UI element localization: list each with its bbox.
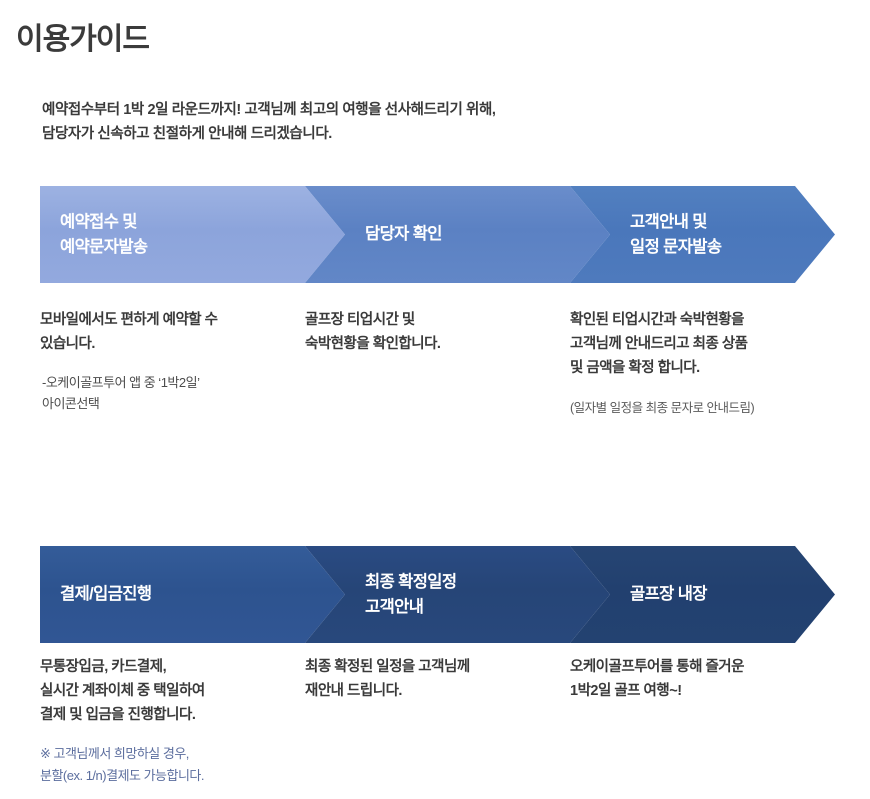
process-flow-row-1: 예약접수 및 예약문자발송 담당자 확인 고객안내 및 일정 문자발송 bbox=[40, 186, 835, 283]
description-4-note: ※ 고객님께서 희망하실 경우, 분할(ex. 1/n)결제도 가능합니다. bbox=[40, 743, 287, 787]
description-column-4: 무통장입금, 카드결제, 실시간 계좌이체 중 택일하여 결제 및 입금을 진행… bbox=[40, 655, 305, 787]
description-6-main: 오케이골프투어를 통해 즐거운 1박2일 골프 여행~! bbox=[570, 655, 822, 703]
description-column-6: 오케이골프투어를 통해 즐거운 1박2일 골프 여행~! bbox=[570, 655, 840, 787]
flow-step-1: 예약접수 및 예약문자발송 bbox=[40, 186, 345, 283]
flow-step-5: 최종 확정일정 고객안내 bbox=[305, 546, 610, 643]
page-title: 이용가이드 bbox=[16, 14, 149, 58]
description-row-1: 모바일에서도 편하게 예약할 수 있습니다. -오케이골프투어 앱 중 ‘1박2… bbox=[40, 308, 840, 419]
flow-step-2: 담당자 확인 bbox=[305, 186, 610, 283]
flow-step-2-label: 담당자 확인 bbox=[365, 222, 442, 247]
flow-step-3-label: 고객안내 및 일정 문자발송 bbox=[630, 210, 721, 260]
description-row-2: 무통장입금, 카드결제, 실시간 계좌이체 중 택일하여 결제 및 입금을 진행… bbox=[40, 655, 840, 787]
flow-step-4: 결제/입금진행 bbox=[40, 546, 345, 643]
description-3-main: 확인된 티업시간과 숙박현황을 고객님께 안내드리고 최종 상품 및 금액을 확… bbox=[570, 308, 822, 380]
description-2-main: 골프장 티업시간 및 숙박현황을 확인합니다. bbox=[305, 308, 552, 356]
description-3-note: (일자별 일정을 최종 문자로 안내드림) bbox=[570, 398, 822, 419]
flow-step-1-label: 예약접수 및 예약문자발송 bbox=[60, 210, 147, 260]
flow-step-4-label: 결제/입금진행 bbox=[60, 582, 151, 607]
description-column-3: 확인된 티업시간과 숙박현황을 고객님께 안내드리고 최종 상품 및 금액을 확… bbox=[570, 308, 840, 419]
description-1-main: 모바일에서도 편하게 예약할 수 있습니다. bbox=[40, 308, 287, 356]
process-flow-row-2: 결제/입금진행 최종 확정일정 고객안내 골프장 내장 bbox=[40, 546, 835, 643]
flow-step-6-label: 골프장 내장 bbox=[630, 582, 707, 607]
description-column-1: 모바일에서도 편하게 예약할 수 있습니다. -오케이골프투어 앱 중 ‘1박2… bbox=[40, 308, 305, 419]
intro-paragraph: 예약접수부터 1박 2일 라운드까지! 고객님께 최고의 여행을 선사해드리기 … bbox=[42, 98, 496, 146]
description-4-main: 무통장입금, 카드결제, 실시간 계좌이체 중 택일하여 결제 및 입금을 진행… bbox=[40, 655, 287, 727]
description-column-2: 골프장 티업시간 및 숙박현황을 확인합니다. bbox=[305, 308, 570, 419]
description-column-5: 최종 확정된 일정을 고객님께 재안내 드립니다. bbox=[305, 655, 570, 787]
description-5-main: 최종 확정된 일정을 고객님께 재안내 드립니다. bbox=[305, 655, 552, 703]
description-1-note: -오케이골프투어 앱 중 ‘1박2일’ 아이콘선택 bbox=[40, 372, 287, 414]
flow-step-5-label: 최종 확정일정 고객안내 bbox=[365, 570, 456, 620]
